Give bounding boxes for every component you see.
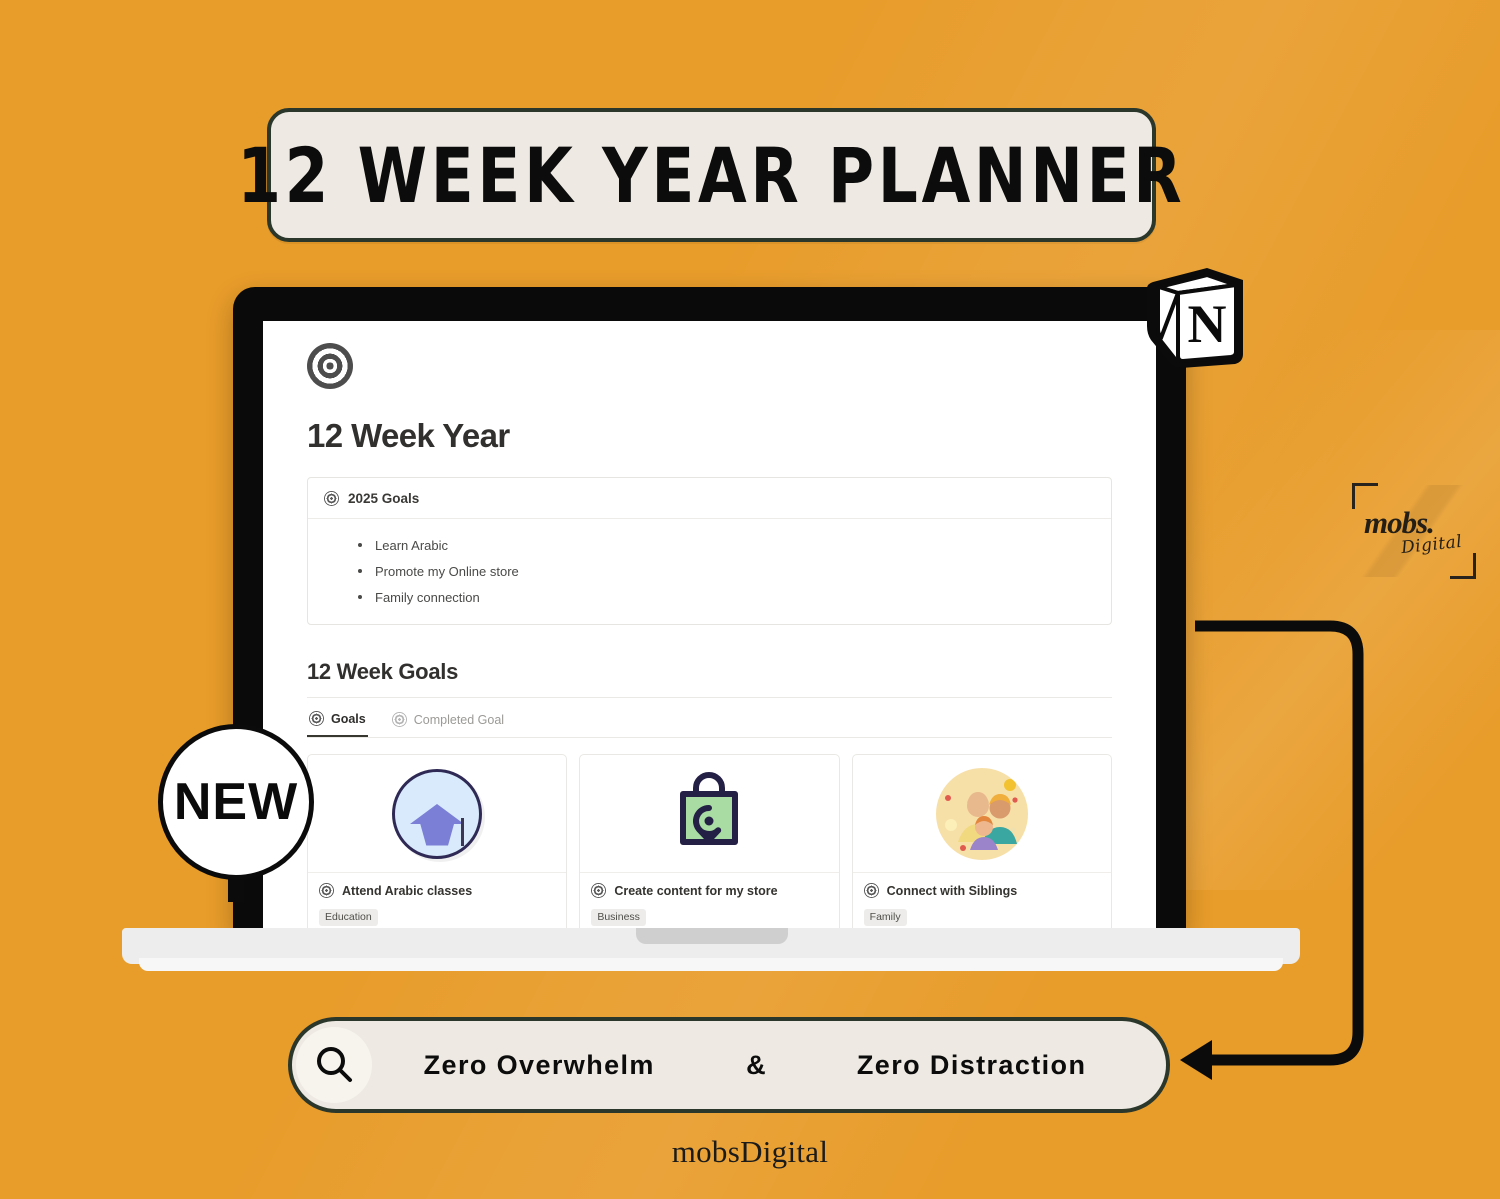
family-group-icon	[936, 768, 1028, 860]
goals-callout-card: 2025 Goals Learn Arabic Promote my Onlin…	[307, 477, 1112, 625]
tab-completed-goal-label: Completed Goal	[414, 713, 504, 727]
tab-goals[interactable]: Goals	[307, 707, 368, 737]
status-badge: Education	[319, 909, 378, 926]
status-badge: Business	[591, 909, 646, 926]
notion-logo-letter: N	[1188, 294, 1227, 354]
goal-card[interactable]: Connect with Siblings Family 25%	[852, 754, 1112, 932]
tab-goals-label: Goals	[331, 712, 366, 726]
footer-brand: mobsDigital	[0, 1134, 1500, 1170]
bullseye-target-icon	[319, 883, 334, 898]
search-icon	[296, 1027, 372, 1103]
goal-card-cover	[308, 755, 566, 873]
tagline-bar: Zero Overwhelm & Zero Distraction	[288, 1017, 1170, 1113]
status-badge: Family	[864, 909, 907, 926]
tagline-left: Zero Overwhelm	[424, 1050, 655, 1081]
list-item-label: Learn Arabic	[375, 538, 448, 553]
goal-card-body: Attend Arabic classes Education 76.5%	[308, 873, 566, 932]
goal-card[interactable]: Attend Arabic classes Education 76.5%	[307, 754, 567, 932]
promo-canvas: 12 WEEK YEAR PLANNER 12 Week Year	[0, 0, 1500, 1199]
goal-card-title: Connect with Siblings	[887, 884, 1018, 898]
bullseye-target-icon	[392, 712, 407, 727]
goal-card-cover	[853, 755, 1111, 873]
notion-page-title: 12 Week Year	[307, 417, 1112, 455]
page-title: 12 WEEK YEAR PLANNER	[237, 131, 1185, 220]
goals-callout-body: Learn Arabic Promote my Online store Fam…	[308, 519, 1111, 624]
watermark-corner-bottom-right	[1450, 553, 1476, 579]
goal-card-body: Connect with Siblings Family 25%	[853, 873, 1111, 932]
watermark-logo: mobs. Digital	[1352, 483, 1476, 579]
tagline-right: Zero Distraction	[857, 1050, 1086, 1081]
shopping-bag-pin-icon	[663, 768, 755, 860]
list-item: Family connection	[324, 584, 1095, 610]
database-view-tabs: Goals Completed Goal	[307, 698, 1112, 738]
section-title: 12 Week Goals	[307, 659, 1112, 698]
new-badge-label: NEW	[174, 772, 298, 832]
notion-logo-icon: N	[1145, 262, 1249, 372]
bullet-icon	[358, 569, 362, 573]
goals-callout-heading: 2025 Goals	[348, 491, 419, 506]
goal-card-body: Create content for my store Business 50%	[580, 873, 838, 932]
bullseye-target-icon	[324, 491, 339, 506]
tagline-ampersand: &	[746, 1050, 766, 1081]
goal-card-title: Create content for my store	[614, 884, 777, 898]
title-banner: 12 WEEK YEAR PLANNER	[267, 108, 1156, 242]
list-item: Promote my Online store	[324, 558, 1095, 584]
laptop-bezel: 12 Week Year 2025 Goals Learn Arabic	[233, 287, 1186, 932]
list-item-label: Family connection	[375, 590, 480, 605]
list-item: Learn Arabic	[324, 532, 1095, 558]
goals-callout-header: 2025 Goals	[308, 478, 1111, 519]
graduation-cap-icon	[392, 769, 482, 859]
goal-card-title-row: Create content for my store	[591, 883, 827, 898]
bullseye-target-icon	[307, 343, 353, 389]
goal-card-title-row: Attend Arabic classes	[319, 883, 555, 898]
laptop-base-notch	[636, 928, 788, 944]
bullseye-target-icon	[309, 711, 324, 726]
goal-card-cover	[580, 755, 838, 873]
goal-card-gallery: Attend Arabic classes Education 76.5%	[307, 738, 1112, 932]
goal-card-title-row: Connect with Siblings	[864, 883, 1100, 898]
goal-card[interactable]: Create content for my store Business 50%	[579, 754, 839, 932]
list-item-label: Promote my Online store	[375, 564, 519, 579]
notion-page: 12 Week Year 2025 Goals Learn Arabic	[263, 321, 1156, 932]
laptop-screen: 12 Week Year 2025 Goals Learn Arabic	[263, 321, 1156, 932]
bullseye-target-icon	[591, 883, 606, 898]
bullet-icon	[358, 595, 362, 599]
tagline-words: Zero Overwhelm & Zero Distraction	[372, 1050, 1166, 1081]
arrow-connector	[1150, 600, 1400, 1100]
new-badge: NEW	[158, 724, 314, 880]
bullet-icon	[358, 543, 362, 547]
bullseye-target-icon	[864, 883, 879, 898]
laptop-base-lip	[139, 958, 1283, 971]
goal-card-title: Attend Arabic classes	[342, 884, 472, 898]
tab-completed-goal[interactable]: Completed Goal	[390, 708, 506, 736]
